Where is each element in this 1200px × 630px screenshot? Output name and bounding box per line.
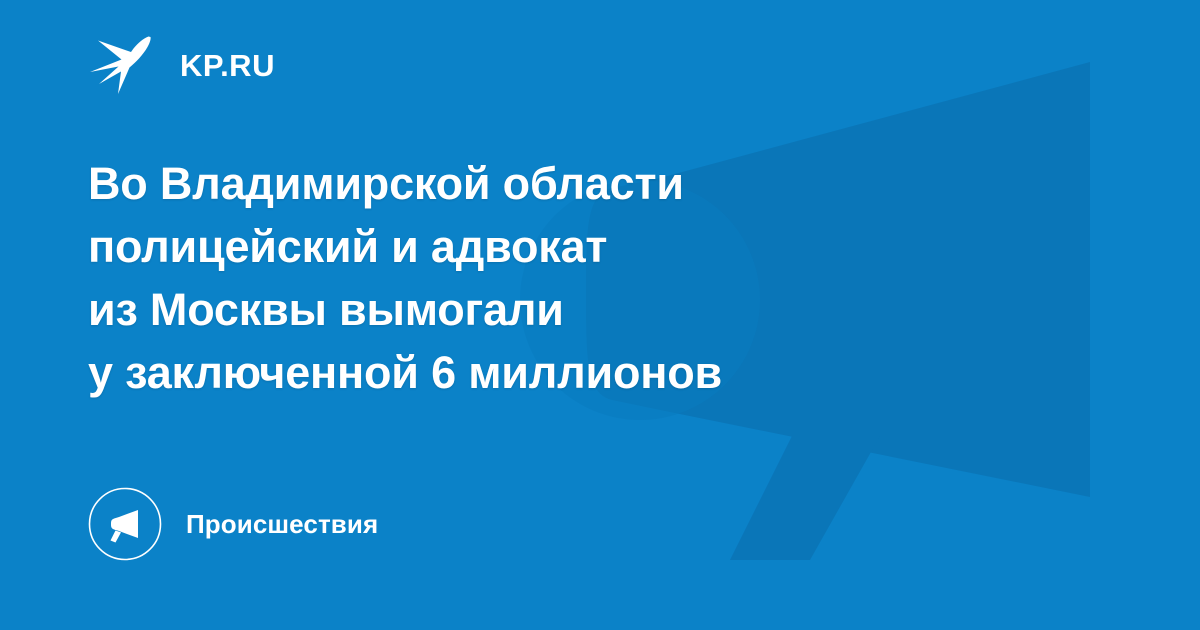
headline-line-3: из Москвы вымогали <box>88 278 988 341</box>
category-label: Происшествия <box>186 511 378 537</box>
category-icon-badge <box>88 487 162 561</box>
category-tag[interactable]: Происшествия <box>88 487 378 561</box>
swallow-bird-icon <box>88 34 162 96</box>
news-share-card: KP.RU Во Владимирской области полицейски… <box>0 0 1200 630</box>
headline-line-1: Во Владимирской области <box>88 152 988 215</box>
brand-name: KP.RU <box>180 50 275 81</box>
megaphone-icon <box>88 487 162 561</box>
headline-line-2: полицейский и адвокат <box>88 215 988 278</box>
headline: Во Владимирской области полицейский и ад… <box>88 152 988 404</box>
brand-header[interactable]: KP.RU <box>88 34 275 96</box>
headline-line-4: у заключенной 6 миллионов <box>88 341 988 404</box>
